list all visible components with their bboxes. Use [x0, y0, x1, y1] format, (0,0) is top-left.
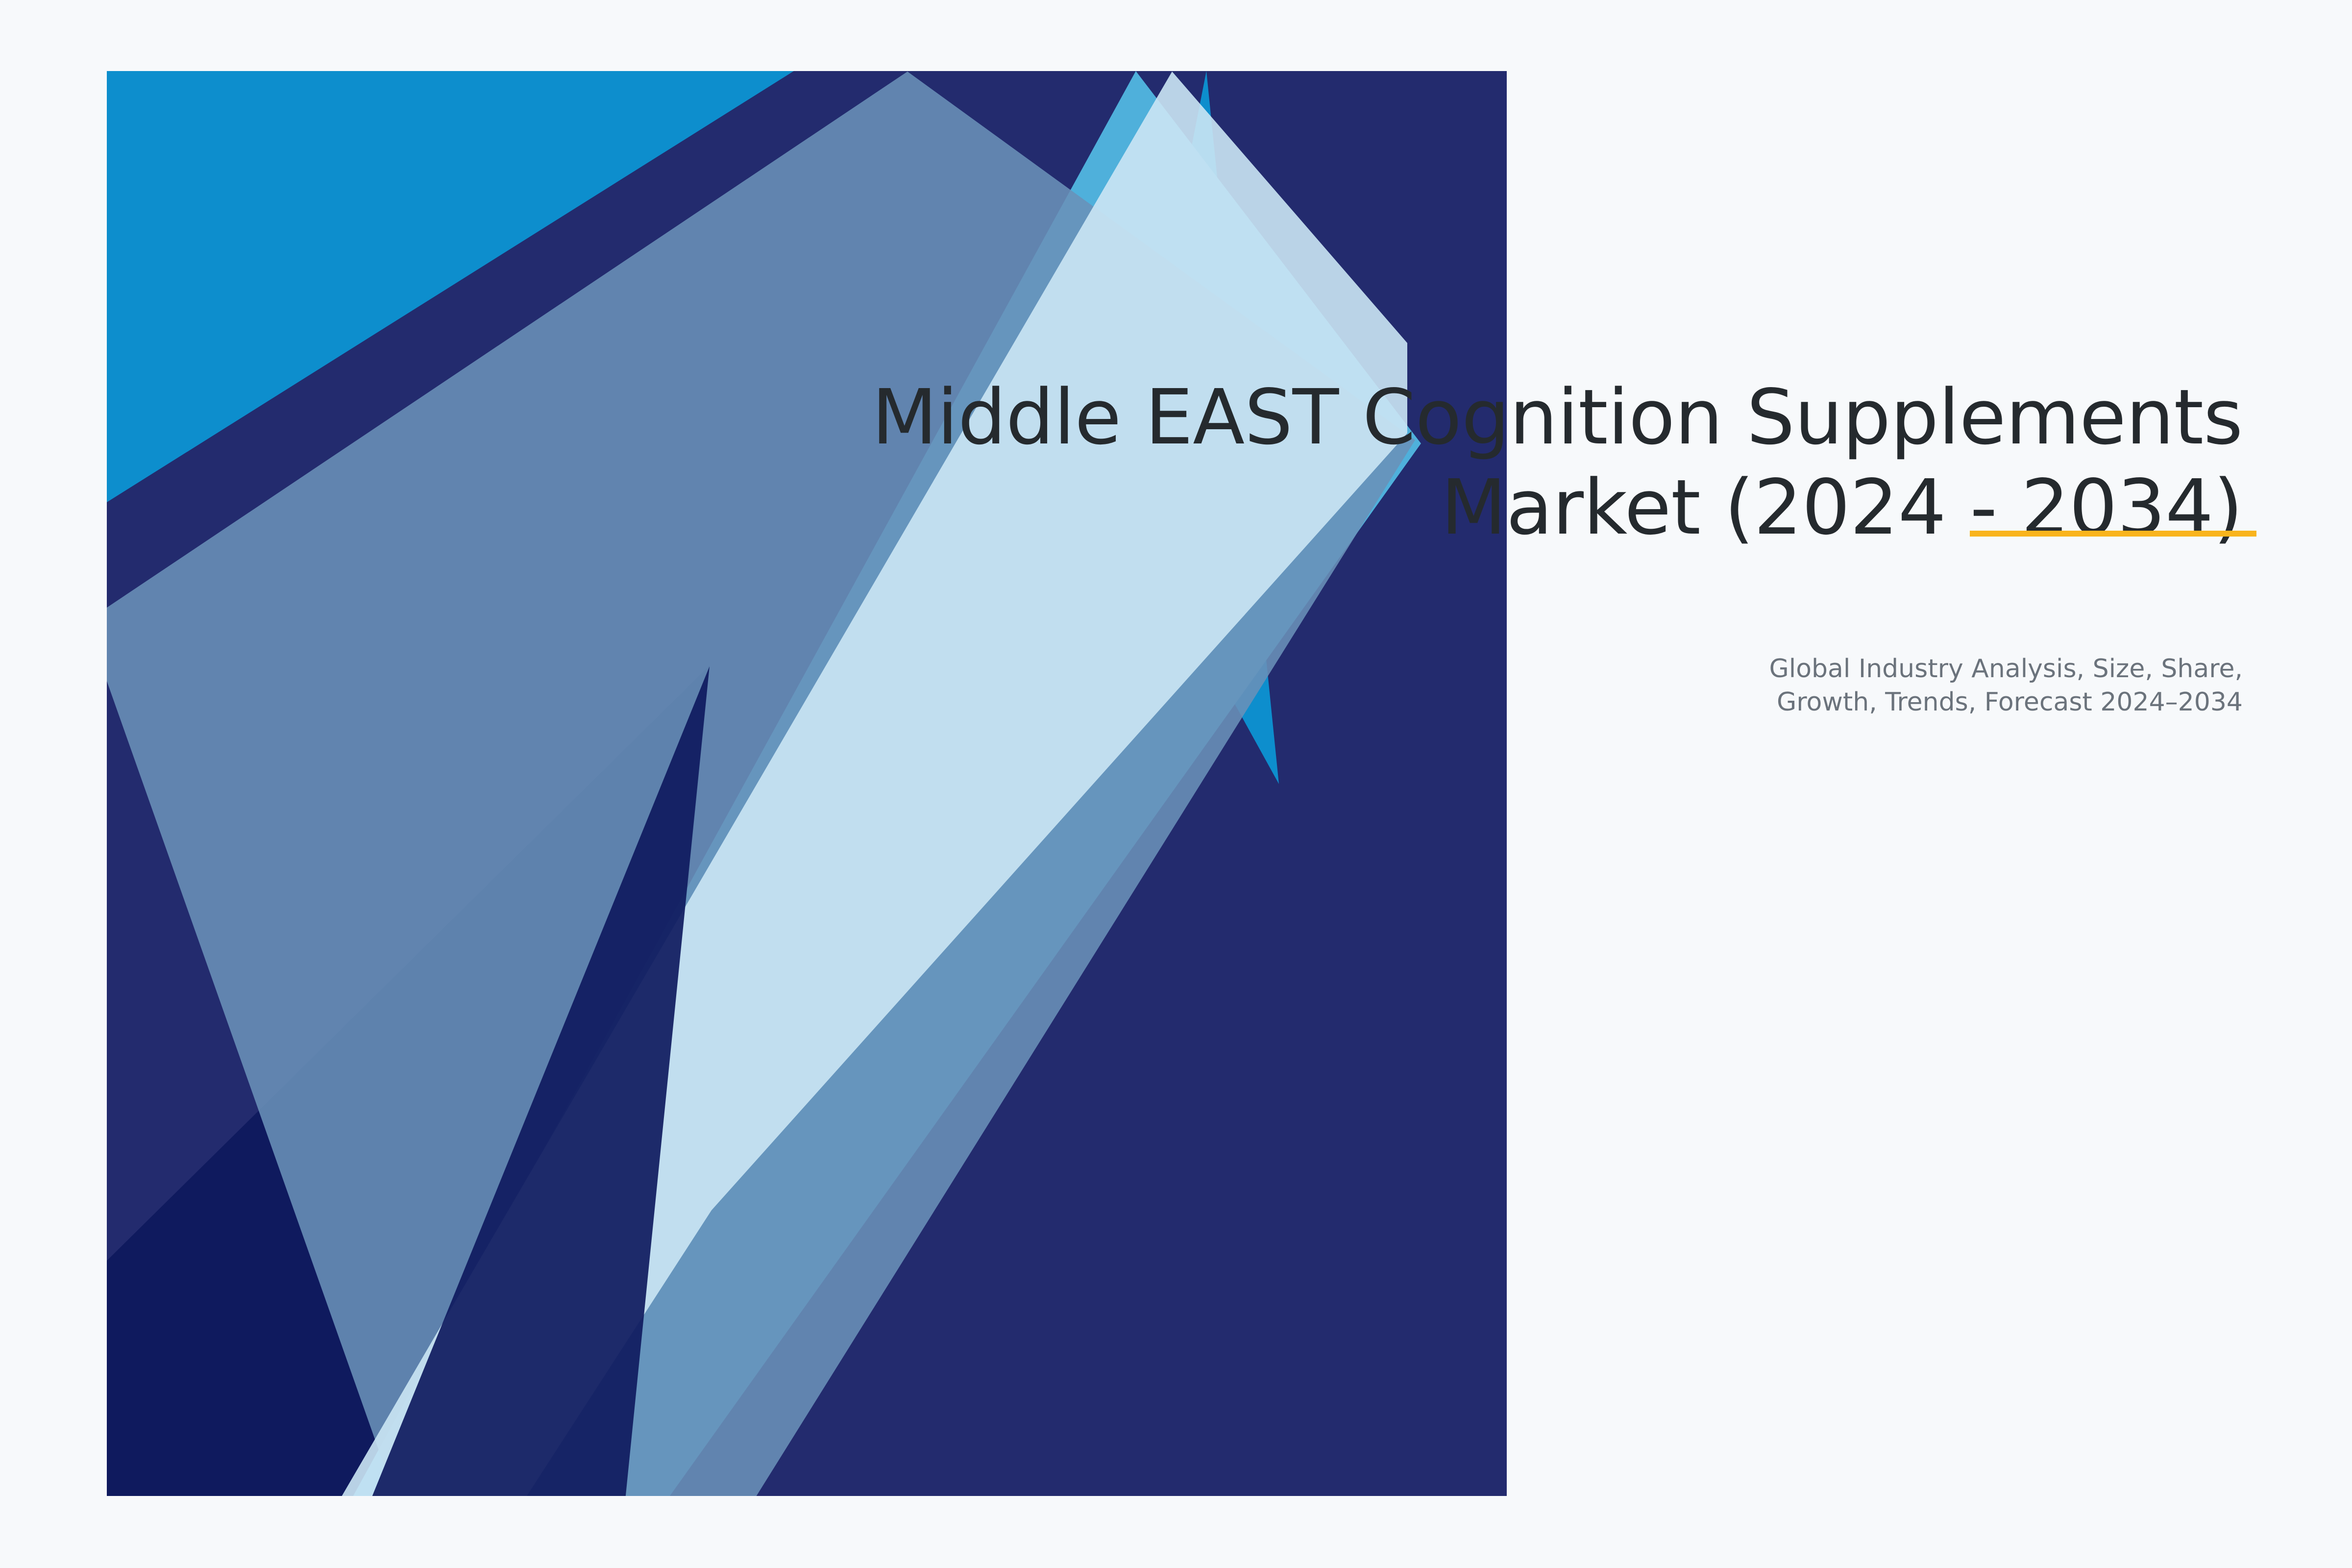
shape-mid-cyan-band	[314, 71, 1421, 1568]
shape-pale-blue-panel	[300, 72, 1407, 1568]
page-title: Middle EAST Cognition Supplements Market…	[735, 372, 2243, 553]
shape-navy-top-right	[107, 71, 1617, 1568]
shape-cyan-field	[107, 71, 1507, 1496]
shape-deep-navy-tip	[343, 666, 710, 1568]
cover-text-block: Middle EAST Cognition Supplements Market…	[735, 372, 2243, 553]
shape-deep-navy-wedge	[73, 665, 710, 1568]
abstract-geometric-cover-graphic	[0, 0, 2352, 1568]
shape-steel-blue-panel	[107, 72, 1415, 1568]
title-underline-accent	[1970, 531, 2256, 537]
page-subtitle: Global Industry Analysis, Size, Share, G…	[1421, 653, 2243, 719]
cover-page: Middle EAST Cognition Supplements Market…	[0, 0, 2352, 1568]
